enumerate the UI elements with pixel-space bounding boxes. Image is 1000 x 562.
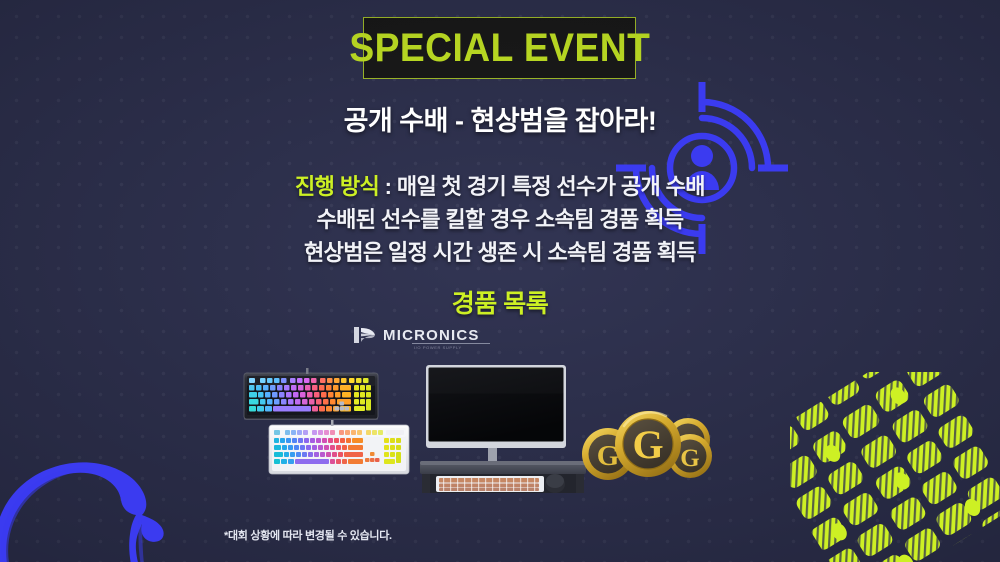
micronics-rule (412, 343, 490, 344)
rgb-keyboard-dark (244, 368, 378, 420)
monitor-riser (420, 461, 586, 493)
prize-image-monitor-stand (418, 362, 590, 494)
micronics-logo: MICRONICS I/O POWER SUPPLY (352, 325, 480, 345)
footnote-text: *대회 상황에 따라 변경될 수 있습니다. (224, 527, 392, 543)
micronics-tagline: I/O POWER SUPPLY (414, 345, 462, 350)
special-event-banner: SPECIAL EVENT (363, 17, 636, 79)
blue-brush-circle-icon (0, 438, 200, 562)
svg-text:G: G (680, 445, 699, 472)
micronics-wordmark: MICRONICS (383, 328, 480, 343)
rule-line-1-text: 매일 첫 경기 특정 선수가 공개 수배 (397, 174, 705, 199)
rule-line-1: 진행 방식 : 매일 첫 경기 특정 선수가 공개 수배 (0, 170, 1000, 203)
coin-front: G (615, 411, 681, 477)
special-event-label: SPECIAL EVENT (349, 28, 650, 68)
rule-separator: : (379, 174, 397, 199)
rgb-keyboard-white (269, 420, 409, 474)
svg-text:G: G (632, 422, 663, 467)
prize-section-title: 경품 목록 (0, 284, 1000, 320)
event-slide: SPECIAL EVENT 공개 수배 - 현상범을 잡아라! 진행 방식 : … (0, 0, 1000, 562)
rule-line-2: 수배된 선수를 킬할 경우 소속팀 경품 획득 (0, 203, 1000, 236)
tire-tread-track-icon (790, 372, 1000, 562)
page-title: 공개 수배 - 현상범을 잡아라! (0, 99, 1000, 138)
micronics-fan-icon (352, 325, 376, 345)
rule-label: 진행 방식 (295, 174, 379, 199)
rule-line-3: 현상범은 일정 시간 생존 시 소속팀 경품 획득 (0, 236, 1000, 269)
monitor (426, 365, 566, 471)
event-rules: 진행 방식 : 매일 첫 경기 특정 선수가 공개 수배 수배된 선수를 킬할 … (0, 170, 1000, 269)
prize-image-keyboards (243, 363, 428, 485)
prize-image-gold-coins: G G G (578, 398, 713, 490)
